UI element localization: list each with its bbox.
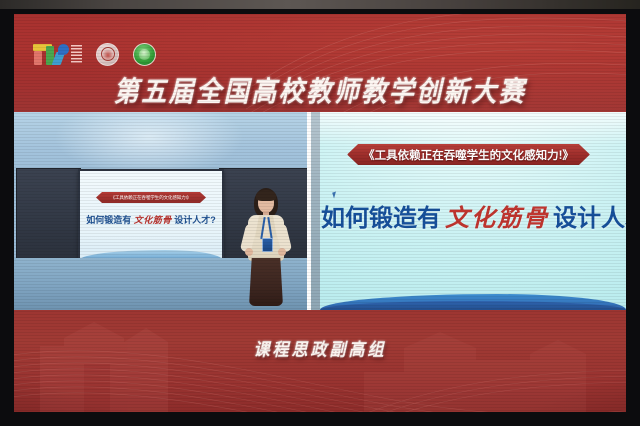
slide-capture: 《工具依赖正在吞噬学生的文化感知力!》 如何锻造有文化筋骨设计人才? [311, 112, 626, 310]
logo-row [30, 41, 156, 67]
ceiling-strip [0, 0, 640, 9]
projection-screen: 《工具依赖正在吞噬学生的文化感知力!》 如何锻造有 文化筋骨 设计人才? [78, 169, 224, 262]
footer-strip: 课程思政副高组 [14, 310, 626, 412]
institute-emblem-green [133, 43, 156, 66]
header-banner: 第五届全国高校教师教学创新大赛 [14, 14, 626, 112]
group-label: 课程思政副高组 [14, 335, 626, 361]
presenter-badge [262, 238, 273, 252]
slide-top-fade [320, 112, 626, 146]
slide-left-edge [311, 112, 320, 310]
projected-heading-calligraphy: 文化筋骨 [134, 215, 172, 225]
slide-heading-calligraphy: 文化筋骨 [441, 206, 553, 232]
tk-competition-logo [30, 42, 82, 66]
presenter-hand-right [278, 248, 286, 256]
panel-container: 《工具依赖正在吞噬学生的文化感知力!》 如何锻造有 文化筋骨 设计人才? [14, 112, 626, 310]
slide-heading: 如何锻造有文化筋骨设计人才? [321, 198, 620, 233]
projected-banner-text: 《工具依赖正在吞噬学生的文化感知力!》 [111, 194, 192, 200]
presenter-hair-front [256, 190, 276, 201]
presenter [242, 188, 290, 310]
university-emblem-white [96, 43, 119, 66]
projected-heading-prefix: 如何锻造有 [86, 215, 131, 225]
blackboard-left [16, 168, 81, 262]
classroom-camera-view: 《工具依赖正在吞噬学生的文化感知力!》 如何锻造有 文化筋骨 设计人才? [14, 112, 307, 310]
projected-banner: 《工具依赖正在吞噬学生的文化感知力!》 [96, 192, 206, 203]
slide-banner: 《工具依赖正在吞噬学生的文化感知力!》 [347, 144, 590, 165]
presenter-skirt [249, 258, 283, 306]
projected-heading: 如何锻造有 文化筋骨 设计人才? [80, 213, 222, 226]
projected-heading-suffix: 设计人才? [174, 215, 216, 225]
led-display-wall: 第五届全国高校教师教学创新大赛 《工具依赖正在吞噬学生的文化感知力!》 如何锻造… [14, 14, 626, 412]
room-wall-glow [54, 112, 244, 176]
slide-banner-text: 《工具依赖正在吞噬学生的文化感知力!》 [363, 147, 574, 163]
screenshot-root: 第五届全国高校教师教学创新大赛 《工具依赖正在吞噬学生的文化感知力!》 如何锻造… [0, 0, 640, 426]
slide-heading-prefix: 如何锻造有 [321, 205, 441, 232]
slide-heading-suffix: 设计人才? [553, 205, 626, 232]
presenter-hand-left [245, 248, 253, 256]
page-title: 第五届全国高校教师教学创新大赛 [14, 70, 626, 110]
